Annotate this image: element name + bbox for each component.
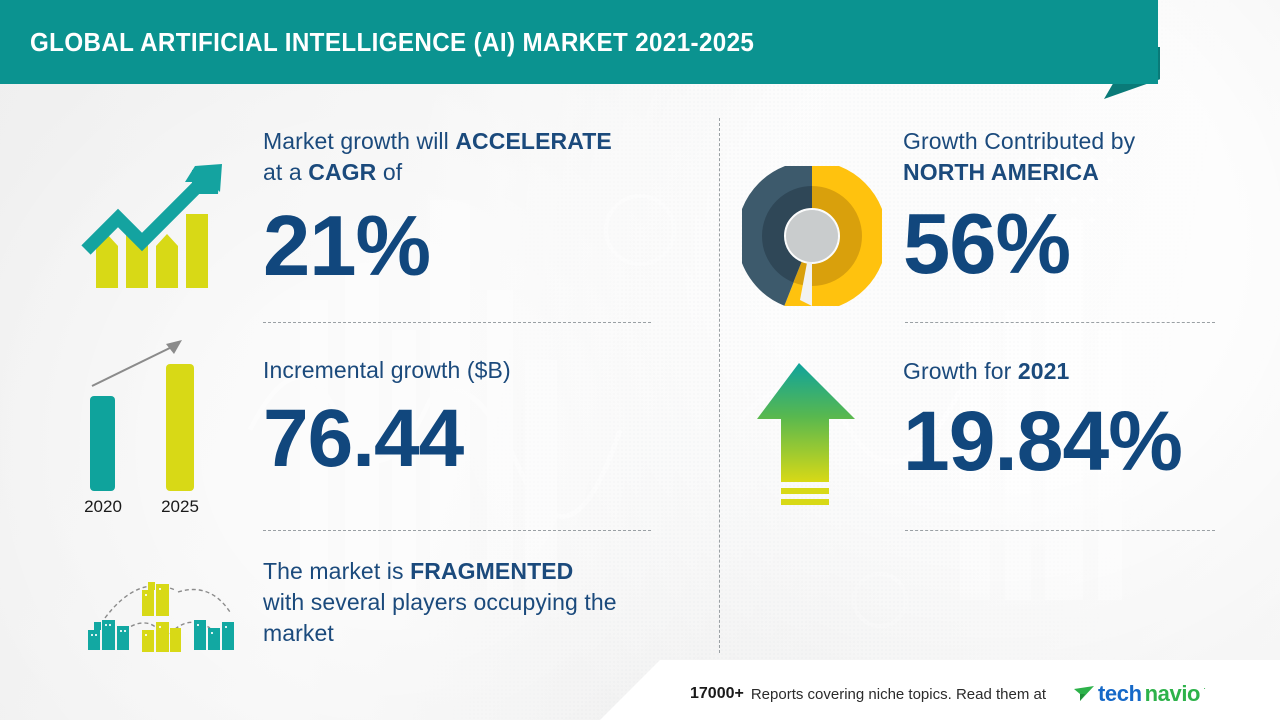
fragmented-line1-bold: FRAGMENTED	[410, 558, 573, 584]
growth-2021-value: 19.84%	[903, 399, 1182, 483]
incremental-label: Incremental growth ($B)	[263, 355, 511, 386]
footer-caption: Reports covering niche topics. Read them…	[751, 686, 1046, 703]
cagr-lead-line2-bold: CAGR	[308, 159, 376, 185]
cagr-value: 21%	[263, 204, 612, 289]
technavio-arrow-icon	[1073, 684, 1095, 704]
block-north-america: Growth Contributed by NORTH AMERICA 56%	[903, 126, 1135, 287]
bar-comparison-icon: 2020 2025	[62, 332, 237, 520]
growth-chart-icon	[62, 142, 237, 297]
logo-text-tech: tech	[1098, 681, 1142, 707]
growth-2021-bold: 2021	[1018, 358, 1070, 384]
cagr-lead-line2-plain: at a	[263, 159, 308, 185]
logo-text-navio: navio	[1145, 681, 1200, 707]
cagr-lead-line1-plain: Market growth will	[263, 128, 455, 154]
city-cluster-icon	[70, 560, 250, 660]
block-cagr: Market growth will ACCELERATE at a CAGR …	[263, 126, 612, 289]
fragmented-line3: market	[263, 620, 334, 646]
north-america-line1: Growth Contributed by	[903, 128, 1135, 154]
block-fragmented: The market is FRAGMENTED with several pl…	[263, 556, 617, 649]
page-title: GLOBAL ARTIFICIAL INTELLIGENCE (AI) MARK…	[30, 27, 754, 58]
divider-right-2	[905, 530, 1215, 531]
logo-trademark: ·	[1203, 683, 1206, 693]
technavio-logo[interactable]: tech navio ·	[1073, 681, 1206, 707]
block-incremental-growth: Incremental growth ($B) 76.44	[263, 355, 511, 480]
cagr-lead-line2-tail: of	[376, 159, 402, 185]
incremental-value: 76.44	[263, 398, 511, 480]
north-america-lead: Growth Contributed by NORTH AMERICA	[903, 126, 1135, 188]
bar-label-2025: 2025	[161, 497, 199, 516]
footer-report-count: 17000+	[690, 685, 744, 703]
up-arrow-icon	[757, 357, 872, 517]
block-growth-2021: Growth for 2021 19.84%	[903, 356, 1182, 483]
fragmented-text: The market is FRAGMENTED with several pl…	[263, 556, 617, 649]
center-divider	[719, 118, 720, 653]
growth-2021-plain: Growth for	[903, 358, 1018, 384]
fragmented-line2: with several players occupying the	[263, 589, 617, 615]
north-america-line2: NORTH AMERICA	[903, 159, 1099, 185]
north-america-value: 56%	[903, 202, 1135, 287]
growth-2021-lead: Growth for 2021	[903, 356, 1182, 387]
cagr-lead-line1-bold: ACCELERATE	[455, 128, 611, 154]
cagr-lead-text: Market growth will ACCELERATE at a CAGR …	[263, 126, 612, 188]
divider-right-1	[905, 322, 1215, 323]
fragmented-line1-plain: The market is	[263, 558, 410, 584]
divider-left-2	[263, 530, 651, 531]
bar-label-2020: 2020	[84, 497, 122, 516]
footer: 17000+ Reports covering niche topics. Re…	[690, 681, 1206, 707]
divider-left-1	[263, 322, 651, 323]
donut-chart-icon	[742, 166, 882, 306]
